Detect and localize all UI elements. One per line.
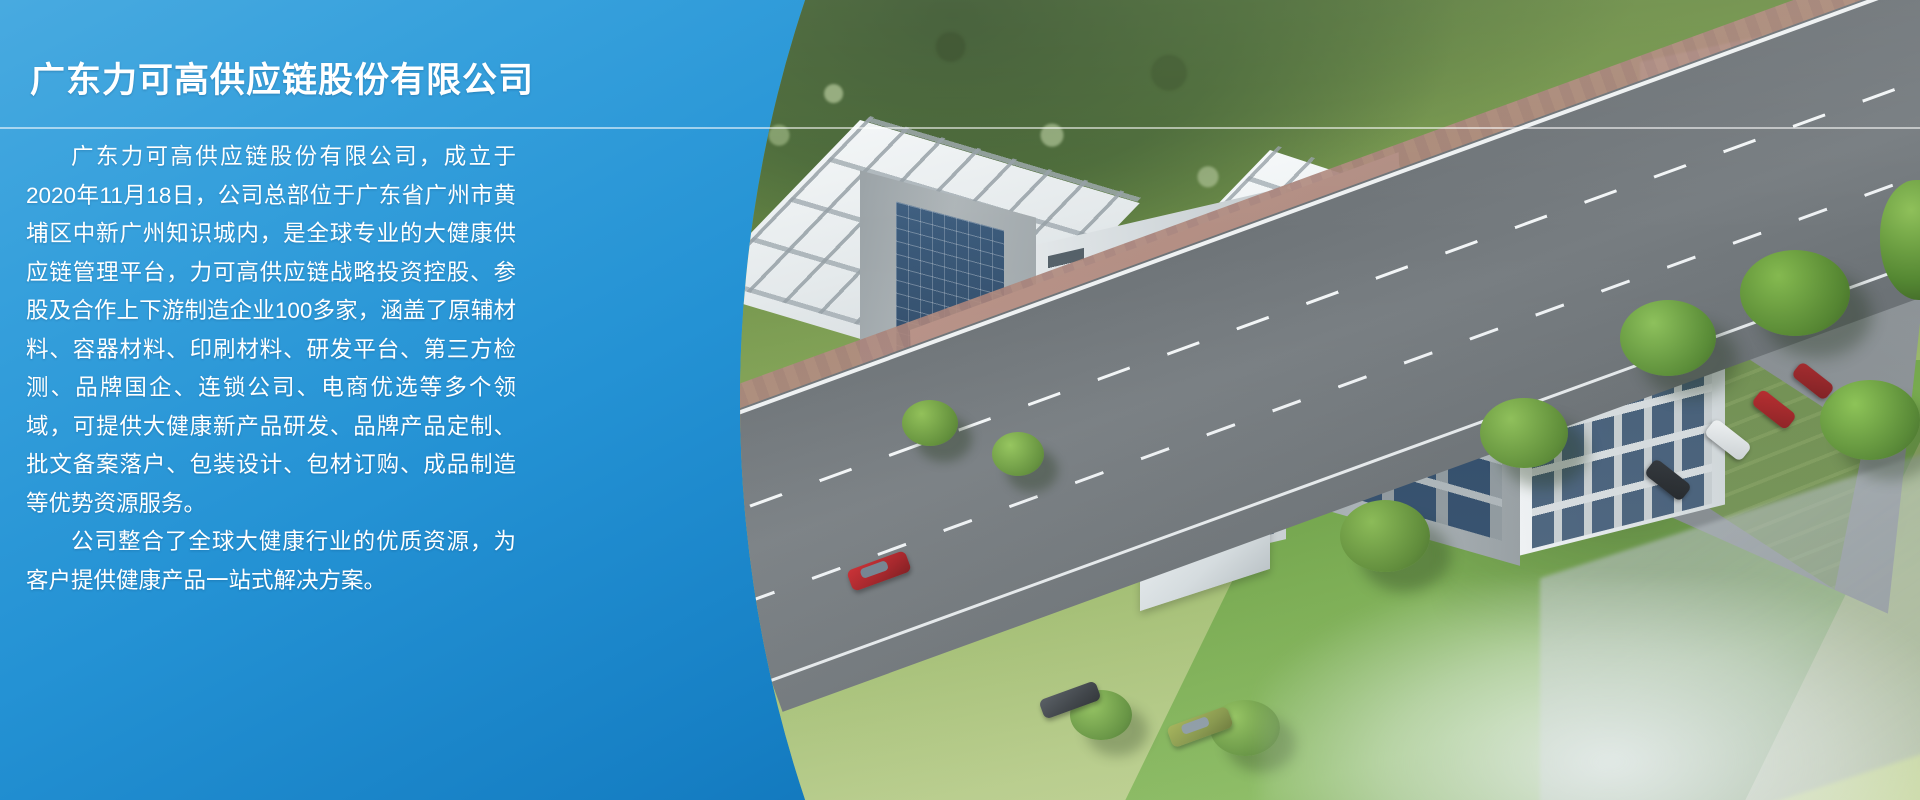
photo-circular-mask: [740, 0, 1920, 800]
hero-banner: 广东力可高供应链股份有限公司 广东力可高供应链股份有限公司，成立于2020年11…: [0, 0, 1920, 800]
company-description: 广东力可高供应链股份有限公司，成立于2020年11月18日，公司总部位于广东省广…: [26, 138, 516, 600]
photo-color-overlay: [740, 0, 1920, 800]
description-paragraph-1: 广东力可高供应链股份有限公司，成立于2020年11月18日，公司总部位于广东省广…: [26, 138, 516, 523]
factory-aerial-photo: [740, 0, 1920, 800]
body-text-region: 广东力可高供应链股份有限公司，成立于2020年11月18日，公司总部位于广东省广…: [0, 0, 560, 800]
description-paragraph-2: 公司整合了全球大健康行业的优质资源，为客户提供健康产品一站式解决方案。: [26, 523, 516, 600]
